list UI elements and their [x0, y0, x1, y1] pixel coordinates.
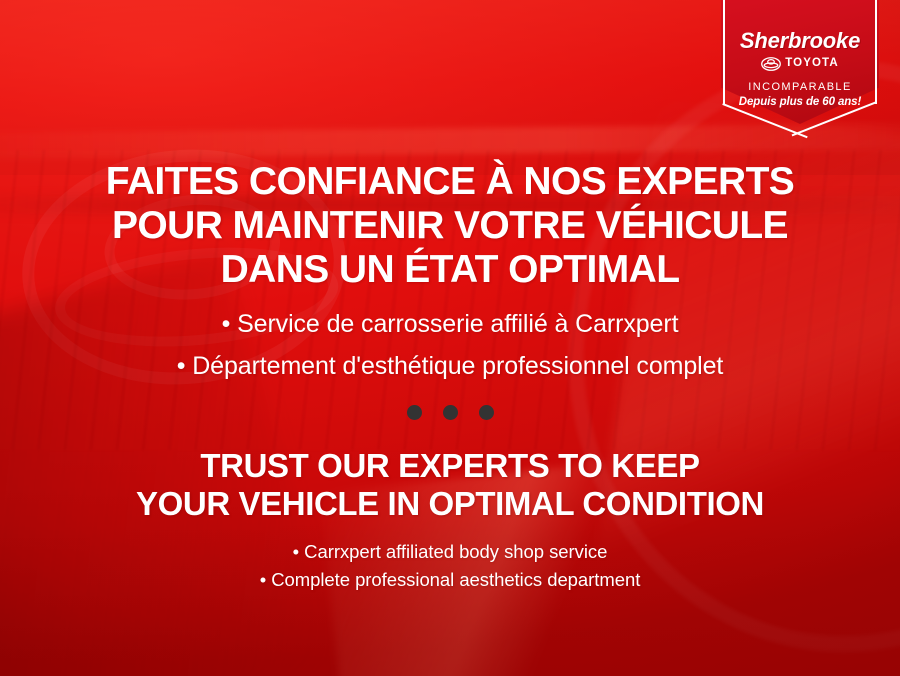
list-item: • Département d'esthétique professionnel…	[0, 345, 900, 387]
headline-english-line-1: TRUST OUR EXPERTS TO KEEP	[0, 447, 900, 485]
list-item: • Service de carrosserie affilié à Carrx…	[0, 303, 900, 345]
bullets-french: • Service de carrosserie affilié à Carrx…	[0, 303, 900, 387]
list-item: • Complete professional aesthetics depar…	[0, 566, 900, 594]
bullets-english: • Carrxpert affiliated body shop service…	[0, 538, 900, 594]
headline-french-line-3: DANS UN ÉTAT OPTIMAL	[0, 248, 900, 292]
divider-dot-2	[443, 405, 458, 420]
headline-french: FAITES CONFIANCE À NOS EXPERTS POUR MAIN…	[0, 160, 900, 292]
dot-divider	[0, 405, 900, 420]
promo-banner: Sherbrooke TOYOTA INCOMPARABLE Depuis pl…	[0, 0, 900, 676]
headline-english-line-2: YOUR VEHICLE IN OPTIMAL CONDITION	[0, 485, 900, 523]
promo-content: FAITES CONFIANCE À NOS EXPERTS POUR MAIN…	[0, 0, 900, 676]
divider-dot-1	[407, 405, 422, 420]
divider-dot-3	[479, 405, 494, 420]
headline-english: TRUST OUR EXPERTS TO KEEP YOUR VEHICLE I…	[0, 447, 900, 523]
list-item: • Carrxpert affiliated body shop service	[0, 538, 900, 566]
headline-french-line-1: FAITES CONFIANCE À NOS EXPERTS	[0, 160, 900, 204]
headline-french-line-2: POUR MAINTENIR VOTRE VÉHICULE	[0, 204, 900, 248]
